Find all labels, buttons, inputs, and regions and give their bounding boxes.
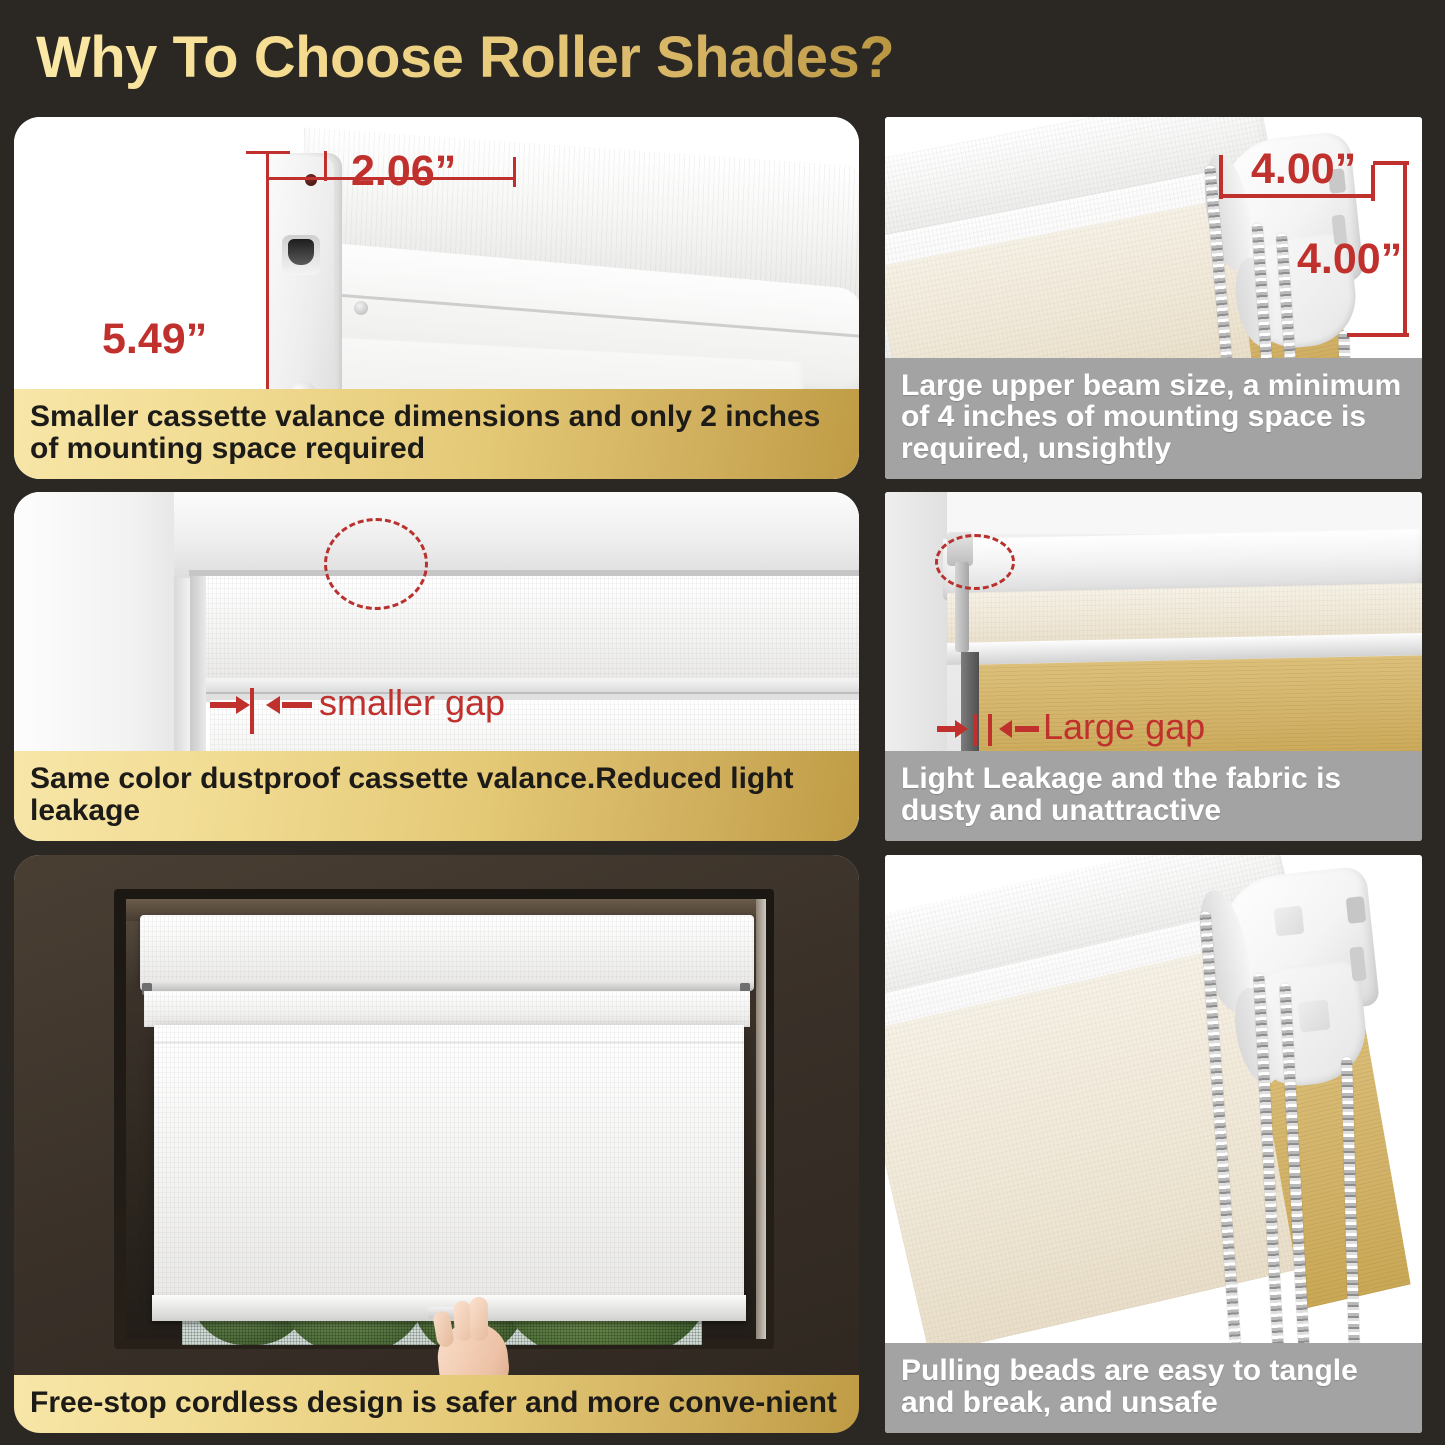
panel-4-caption: Light Leakage and the fabric is dusty an… xyxy=(885,751,1422,841)
gap-marker xyxy=(250,688,254,734)
width-dimension-label: 2.06” xyxy=(351,147,456,196)
panel-6-caption: Pulling beads are easy to tangle and bre… xyxy=(885,1343,1422,1433)
height-dimension-label: 4.00” xyxy=(1297,235,1402,284)
panel-1-caption: Smaller cassette valance dimensions and … xyxy=(14,389,859,479)
panel-smaller-cassette: 2.06” 5.49” Smaller cassette valance dim… xyxy=(14,117,859,479)
panel-5-image xyxy=(14,855,859,1433)
panel-cordless-design: Free-stop cordless design is safer and m… xyxy=(14,855,859,1433)
height-dimension-label: 5.49” xyxy=(102,315,207,364)
width-dimension-line xyxy=(1219,194,1375,198)
height-dimension-line xyxy=(1403,161,1407,337)
panel-5-caption: Free-stop cordless design is safer and m… xyxy=(14,1375,859,1433)
panel-dustproof-valance: smaller gap Same color dustproof cassett… xyxy=(14,492,859,841)
panel-3-caption: Same color dustproof cassette valance.Re… xyxy=(14,751,859,841)
panel-grid: 2.06” 5.49” Smaller cassette valance dim… xyxy=(0,0,1445,1445)
gap-marker xyxy=(973,714,977,746)
panel-light-leakage: Large gap Light Leakage and the fabric i… xyxy=(885,492,1422,841)
panel-2-caption: Large upper beam size, a minimum of 4 in… xyxy=(885,358,1422,479)
infographic-page: Why To Choose Roller Shades? xyxy=(0,0,1445,1445)
panel-large-upper-beam: 4.00” 4.00” Large upper beam size, a min… xyxy=(885,117,1422,479)
highlight-circle xyxy=(324,518,428,610)
panel-pulling-beads: Pulling beads are easy to tangle and bre… xyxy=(885,855,1422,1433)
width-dimension-label: 4.00” xyxy=(1251,145,1356,194)
highlight-circle xyxy=(935,534,1015,590)
gap-callout-label: Large gap xyxy=(1043,706,1205,748)
gap-callout-label: smaller gap xyxy=(319,682,505,724)
